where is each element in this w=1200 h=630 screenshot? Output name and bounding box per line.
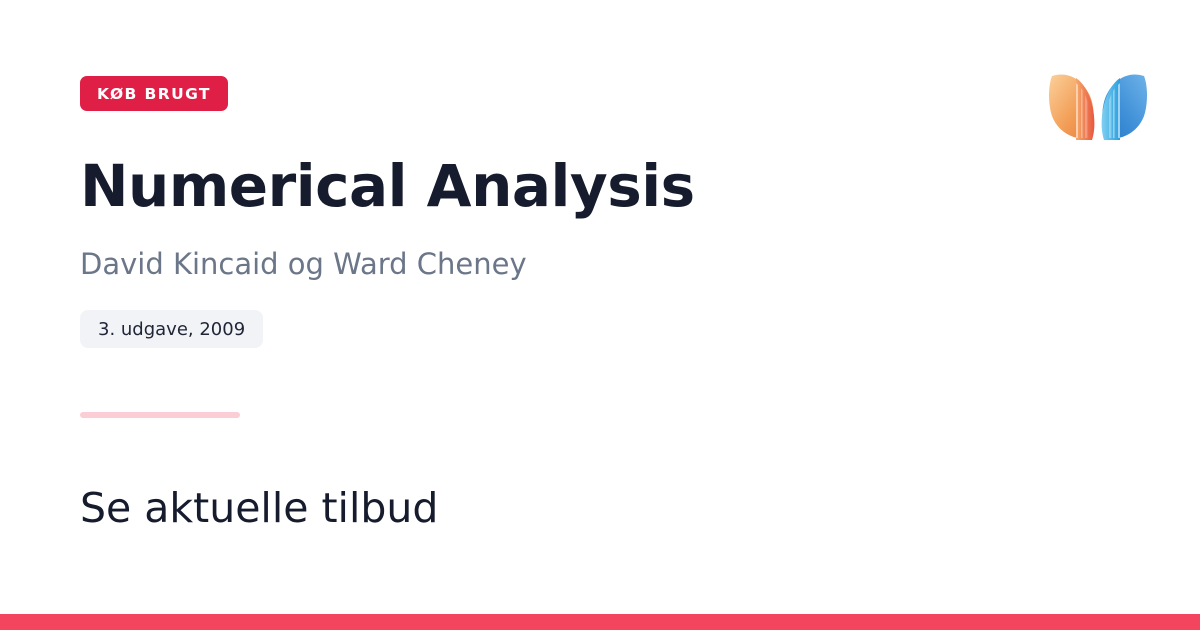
bottom-accent-bar: [0, 614, 1200, 630]
butterfly-wings-logo: [1038, 46, 1158, 166]
logo-mark: [1049, 74, 1147, 144]
accent-divider: [80, 412, 240, 418]
brand-logo[interactable]: [1038, 46, 1158, 166]
book-authors: David Kincaid og Ward Cheney: [80, 245, 527, 283]
status-badge: KØB BRUGT: [80, 76, 228, 111]
edition-chip: 3. udgave, 2009: [80, 310, 263, 348]
page-title: Numerical Analysis: [80, 152, 695, 220]
reflection-fade: [1038, 142, 1158, 166]
promo-card: KØB BRUGT Numerical Analysis David Kinca…: [0, 0, 1200, 630]
cta-link[interactable]: Se aktuelle tilbud: [80, 481, 438, 535]
